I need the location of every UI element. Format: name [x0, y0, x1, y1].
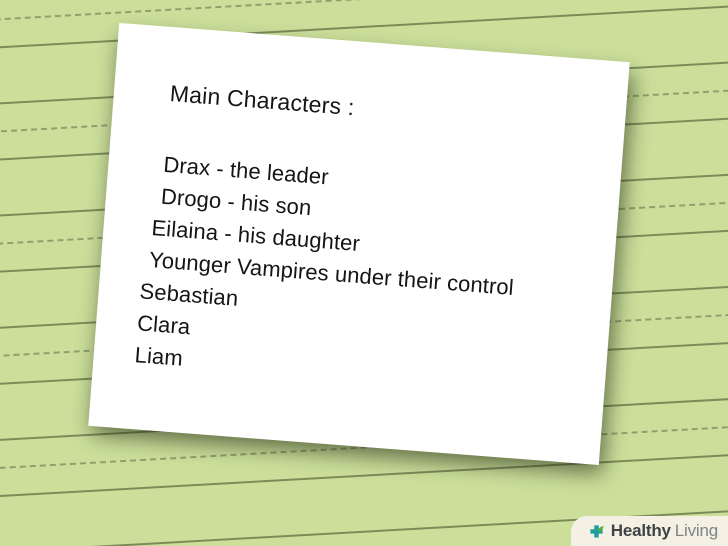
character-list: Drax - the leader Drogo - his son Eilain…: [126, 147, 612, 406]
note-heading: Main Characters :: [169, 80, 355, 121]
scene: Main Characters : Drax - the leader Drog…: [0, 0, 728, 546]
note-paper: Main Characters : Drax - the leader Drog…: [88, 23, 629, 465]
note-content: Main Characters : Drax - the leader Drog…: [88, 23, 629, 465]
watermark-brand-light: Living: [675, 521, 718, 541]
watermark-brand-bold: Healthy: [611, 521, 671, 541]
watermark-badge: Healthy Living: [571, 516, 728, 546]
medical-cross-leaf-icon: [587, 522, 606, 541]
